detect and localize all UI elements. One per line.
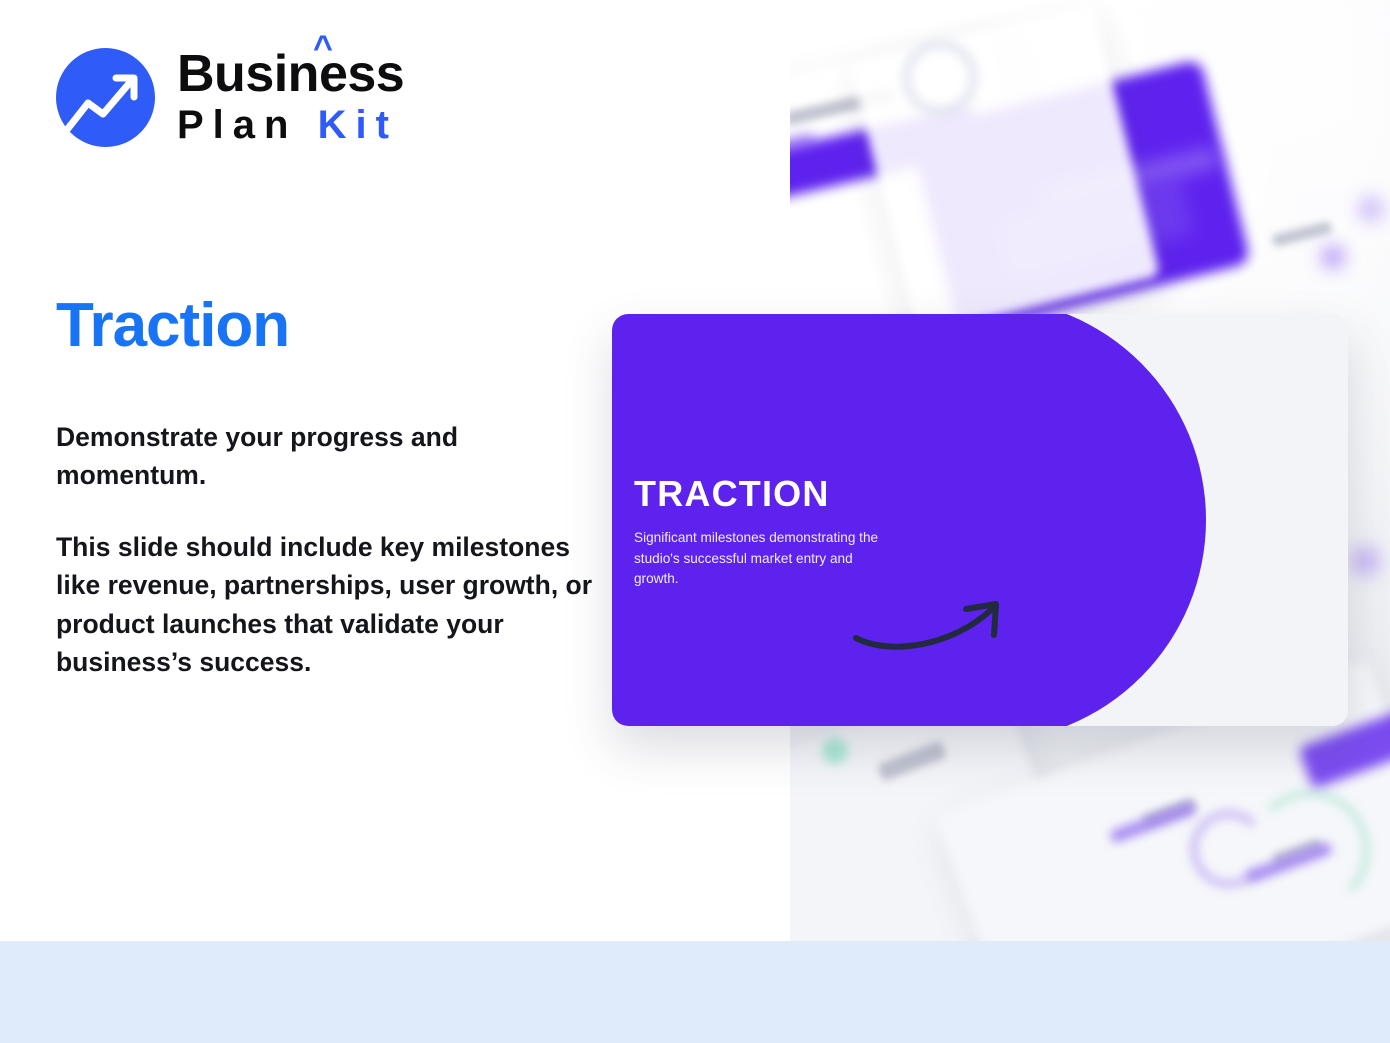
bg-dot-purple-1 [1322,246,1344,268]
brand-line-business: Business ^ [177,48,404,101]
slide-heading: TRACTION [634,476,894,512]
growth-arrow-circle-icon [56,48,155,147]
page-title: Traction [56,295,289,357]
caret-accent-icon: ^ [313,31,332,65]
slide-purple-content: TRACTION Significant milestones demonstr… [634,476,894,590]
brand-logo: Business ^ Plan Kit [56,48,404,148]
brand-line2-accent: Kit [318,103,398,147]
curved-arrow-up-right-icon [850,594,1010,654]
bg-dot-purple-3 [1358,196,1384,222]
bg-donut-mint [1250,790,1370,910]
bg-dot-purple-4 [1350,546,1380,576]
brand-wordmark: Business ^ Plan Kit [177,48,404,148]
slide-subtitle: Significant milestones demonstrating the… [634,528,884,590]
bottom-accent-band [0,941,1390,1043]
slide-template-page: Business ^ Plan Kit Traction Demonstrate… [0,0,1390,1043]
description-paragraph-2: This slide should include key milestones… [56,528,596,681]
bg-mint-dot [822,738,848,764]
page-description: Demonstrate your progress and momentum. … [56,418,596,681]
slide-preview-card[interactable]: TRACTION Significant milestones demonstr… [612,314,1348,726]
brand-line-plankit: Plan Kit [177,103,404,148]
brand-line2-plain: Plan [177,103,297,147]
brand-line1-text: Business [177,45,404,103]
description-paragraph-1: Demonstrate your progress and momentum. [56,418,596,494]
